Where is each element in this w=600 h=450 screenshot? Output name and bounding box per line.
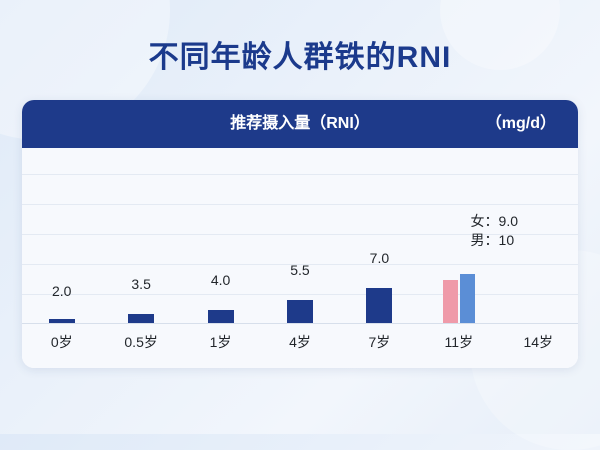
- bar: [366, 288, 392, 324]
- x-label: 7岁: [340, 330, 419, 354]
- x-label: 1岁: [181, 330, 260, 354]
- bar: [287, 300, 313, 324]
- chart-card-header: 推荐摄入量（RNI） （mg/d）: [22, 100, 578, 148]
- bar-female: [443, 280, 458, 324]
- bar-male: [460, 274, 475, 324]
- bar-slot: 4.0: [181, 174, 260, 324]
- chart-axis-line: [22, 323, 578, 324]
- x-label: 0.5岁: [101, 330, 180, 354]
- bar-group: [208, 310, 234, 324]
- chart-header-unit: （mg/d）: [486, 100, 556, 148]
- chart-x-axis-labels: 0岁 0.5岁 1岁 4岁 7岁 11岁 14岁: [22, 330, 578, 354]
- bar-value-label: 7.0: [340, 250, 419, 266]
- bar-slot: [499, 174, 578, 324]
- page-title: 不同年龄人群铁的RNI: [0, 32, 600, 76]
- bar-slot: 2.0: [22, 174, 101, 324]
- chart-card: 推荐摄入量（RNI） （mg/d） 女：9.0 男：10 2.0 3.5: [22, 100, 578, 368]
- bar-value-label: 5.5: [260, 262, 339, 278]
- bar: [208, 310, 234, 324]
- bar-slot: 5.5: [260, 174, 339, 324]
- chart-plot-area: 女：9.0 男：10 2.0 3.5 4.0: [22, 148, 578, 368]
- bar-value-label: 4.0: [181, 272, 260, 288]
- x-label: 11岁: [419, 330, 498, 354]
- bar-slot: 7.0: [340, 174, 419, 324]
- bar-slot: 3.5: [101, 174, 180, 324]
- bar-value-label: 3.5: [101, 276, 180, 292]
- bar-group: [366, 288, 392, 324]
- x-label: 0岁: [22, 330, 101, 354]
- bar-group: [287, 300, 313, 324]
- bar-group: [443, 274, 475, 324]
- chart-bars: 2.0 3.5 4.0 5.5: [22, 174, 578, 324]
- bar-value-label: 2.0: [22, 283, 101, 299]
- x-label: 4岁: [260, 330, 339, 354]
- x-label: 14岁: [499, 330, 578, 354]
- bar-slot: [419, 174, 498, 324]
